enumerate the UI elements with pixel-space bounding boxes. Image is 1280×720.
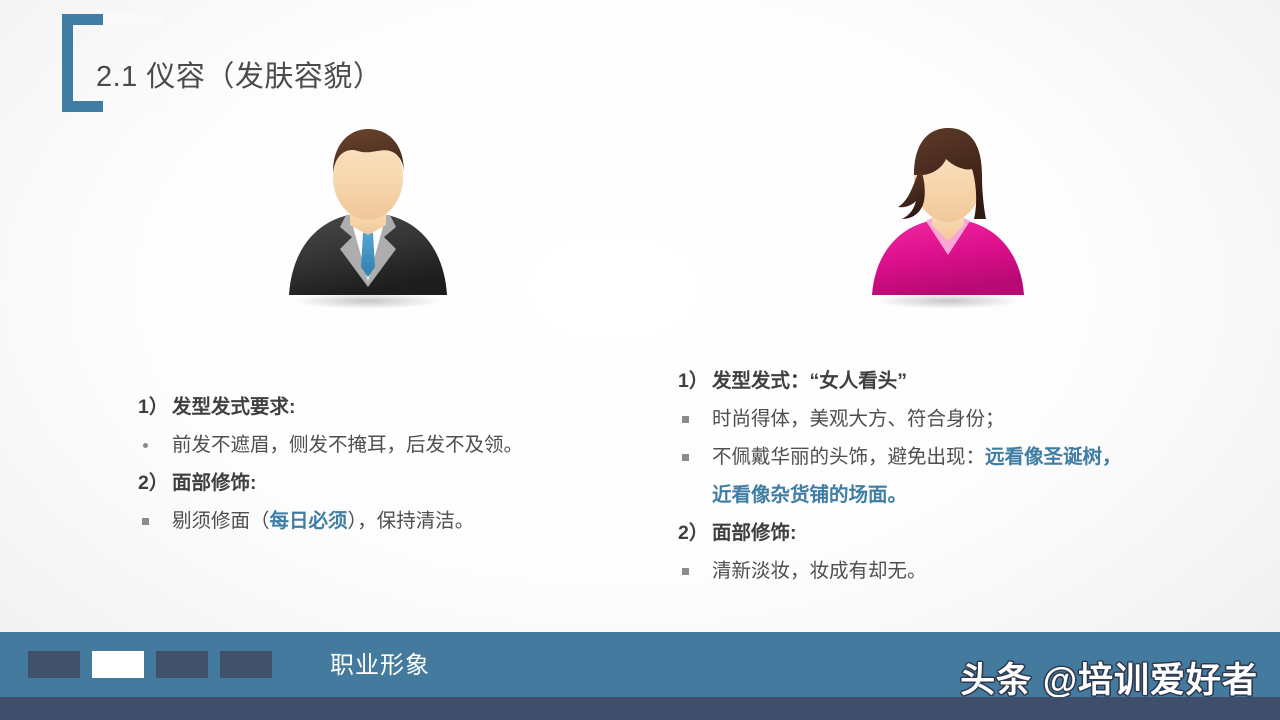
- pager-block-3[interactable]: [156, 651, 208, 678]
- list-text: 发型发式要求:: [172, 388, 638, 426]
- page-title: 2.1 仪容（发肤容貌）: [96, 53, 382, 95]
- right-text-column: 1） 发型发式：“女人看头” 时尚得体，美观大方、符合身份； 不佩戴华丽的头饰，…: [678, 362, 1238, 590]
- slide-root: 2.1 仪容（发肤容貌）: [0, 0, 1280, 720]
- list-item: 剔须修面（每日必须），保持清洁。: [138, 502, 638, 540]
- female-avatar-icon: [858, 115, 1038, 310]
- list-marker: 1）: [678, 362, 712, 400]
- pager-block-1[interactable]: [28, 651, 80, 678]
- list-text: 剔须修面（每日必须），保持清洁。: [172, 502, 638, 540]
- list-item: 清新淡妆，妆成有却无。: [678, 552, 1238, 590]
- list-text: 面部修饰:: [712, 514, 1238, 552]
- footer-title: 职业形象: [330, 645, 430, 680]
- bracket-notch-bottom: [103, 101, 163, 112]
- male-avatar: [278, 115, 458, 310]
- list-item: 2） 面部修饰:: [138, 464, 638, 502]
- highlight-continuation: 近看像杂货铺的场面。: [678, 476, 1238, 514]
- highlight-text: 远看像圣诞树，: [985, 446, 1122, 468]
- highlight-text: 每日必须: [270, 510, 348, 532]
- list-text: 面部修饰:: [172, 464, 638, 502]
- female-avatar: [858, 115, 1038, 310]
- male-avatar-icon: [278, 115, 458, 310]
- list-text: 前发不遮眉，侧发不掩耳，后发不及领。: [172, 426, 638, 464]
- pager-block-4[interactable]: [220, 651, 272, 678]
- list-item: 前发不遮眉，侧发不掩耳，后发不及领。: [138, 426, 638, 464]
- list-text: 发型发式：“女人看头”: [712, 362, 1238, 400]
- list-text: 不佩戴华丽的头饰，避免出现：远看像圣诞树，: [712, 438, 1238, 476]
- watermark-text: 头条 @培训爱好者: [960, 652, 1258, 703]
- list-item: 1） 发型发式：“女人看头”: [678, 362, 1238, 400]
- pager-block-2-active[interactable]: [92, 651, 144, 678]
- list-text: 清新淡妆，妆成有却无。: [712, 552, 1238, 590]
- left-text-column: 1） 发型发式要求: 前发不遮眉，侧发不掩耳，后发不及领。 2） 面部修饰: 剔…: [138, 388, 638, 540]
- list-marker: 2）: [678, 514, 712, 552]
- text-after: ），保持清洁。: [348, 510, 475, 532]
- footer-bottom-strip: [0, 697, 1280, 720]
- list-item: 时尚得体，美观大方、符合身份；: [678, 400, 1238, 438]
- list-text: 时尚得体，美观大方、符合身份；: [712, 400, 1238, 438]
- list-item: 2） 面部修饰:: [678, 514, 1238, 552]
- list-marker: 2）: [138, 464, 172, 502]
- text-before: 不佩戴华丽的头饰，避免出现：: [712, 446, 985, 468]
- list-item: 不佩戴华丽的头饰，避免出现：远看像圣诞树，: [678, 438, 1238, 476]
- list-marker: 1）: [138, 388, 172, 426]
- text-before: 剔须修面（: [172, 510, 270, 532]
- list-item: 1） 发型发式要求:: [138, 388, 638, 426]
- bracket-notch-top: [103, 14, 163, 25]
